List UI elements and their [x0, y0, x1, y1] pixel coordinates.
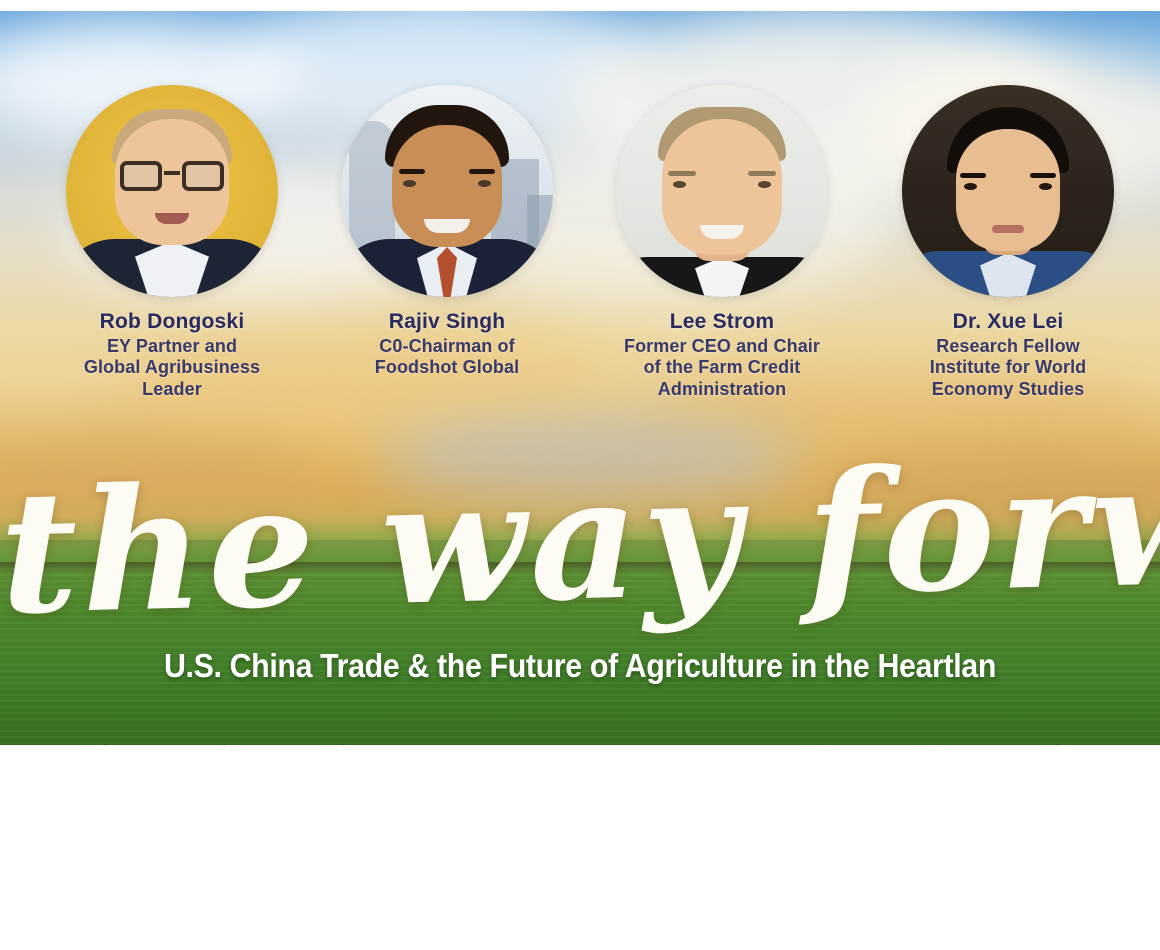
eyeglasses — [120, 161, 224, 191]
speaker-title-line: Research Fellow — [870, 336, 1146, 358]
speaker-name: Rajiv Singh — [309, 310, 585, 334]
event-subtitle: U.S. China Trade & the Future of Agricul… — [46, 647, 1113, 685]
mouth — [424, 219, 470, 233]
footer-bar: , May 2o, 2020 • 9-10:30 am EST UNITED S… — [0, 745, 1160, 950]
speaker-title-line: Administration — [584, 379, 860, 401]
eye-left — [964, 183, 977, 190]
speaker-name: Rob Dongoski — [34, 310, 310, 334]
speaker-title-line: Leader — [34, 379, 310, 401]
eyebrow-left — [399, 169, 425, 174]
speaker-title: EY Partner and Global Agribusiness Leade… — [34, 336, 310, 402]
speaker-card-rob-dongoski: Rob Dongoski EY Partner and Global Agrib… — [34, 85, 310, 401]
eyebrow-left — [668, 171, 696, 176]
speaker-title-line: C0-Chairman of — [309, 336, 585, 358]
eye-right — [758, 181, 771, 188]
speaker-title-line: Former CEO and Chair — [584, 336, 860, 358]
hero-banner: Rob Dongoski EY Partner and Global Agrib… — [0, 11, 1160, 745]
speaker-title: Former CEO and Chair of the Farm Credit … — [584, 336, 860, 402]
speaker-title-line: Institute for World — [870, 357, 1146, 379]
top-white-strip — [0, 0, 1160, 11]
eyebrow-left — [960, 173, 986, 178]
eyebrow-right — [469, 169, 495, 174]
speaker-title: C0-Chairman of Foodshot Global — [309, 336, 585, 380]
eye-right — [1039, 183, 1052, 190]
eye-left — [403, 180, 416, 187]
speaker-title-line: EY Partner and — [34, 336, 310, 358]
speaker-title-line: Foodshot Global — [309, 357, 585, 379]
speaker-title-line: Economy Studies — [870, 379, 1146, 401]
eye-left — [673, 181, 686, 188]
eyebrow-right — [748, 171, 776, 176]
avatar — [902, 85, 1114, 297]
lens-right — [182, 161, 224, 191]
speaker-title-line: Global Agribusiness — [34, 357, 310, 379]
mouth — [992, 225, 1024, 233]
speaker-name: Lee Strom — [584, 310, 860, 334]
event-script-title: the way forward — [0, 425, 1160, 668]
avatar — [66, 85, 278, 297]
speaker-title: Research Fellow Institute for World Econ… — [870, 336, 1146, 402]
speaker-card-lee-strom: Lee Strom Former CEO and Chair of the Fa… — [584, 85, 860, 401]
eye-right — [478, 180, 491, 187]
glasses-bridge — [164, 171, 180, 175]
avatar — [341, 85, 553, 297]
avatar — [616, 85, 828, 297]
eyebrow-right — [1030, 173, 1056, 178]
lens-left — [120, 161, 162, 191]
speaker-card-dr-xue-lei: Dr. Xue Lei Research Fellow Institute fo… — [870, 85, 1146, 401]
speaker-name: Dr. Xue Lei — [870, 310, 1146, 334]
speaker-card-rajiv-singh: Rajiv Singh C0-Chairman of Foodshot Glob… — [309, 85, 585, 379]
speaker-list: Rob Dongoski EY Partner and Global Agrib… — [0, 11, 1160, 431]
speaker-title-line: of the Farm Credit — [584, 357, 860, 379]
